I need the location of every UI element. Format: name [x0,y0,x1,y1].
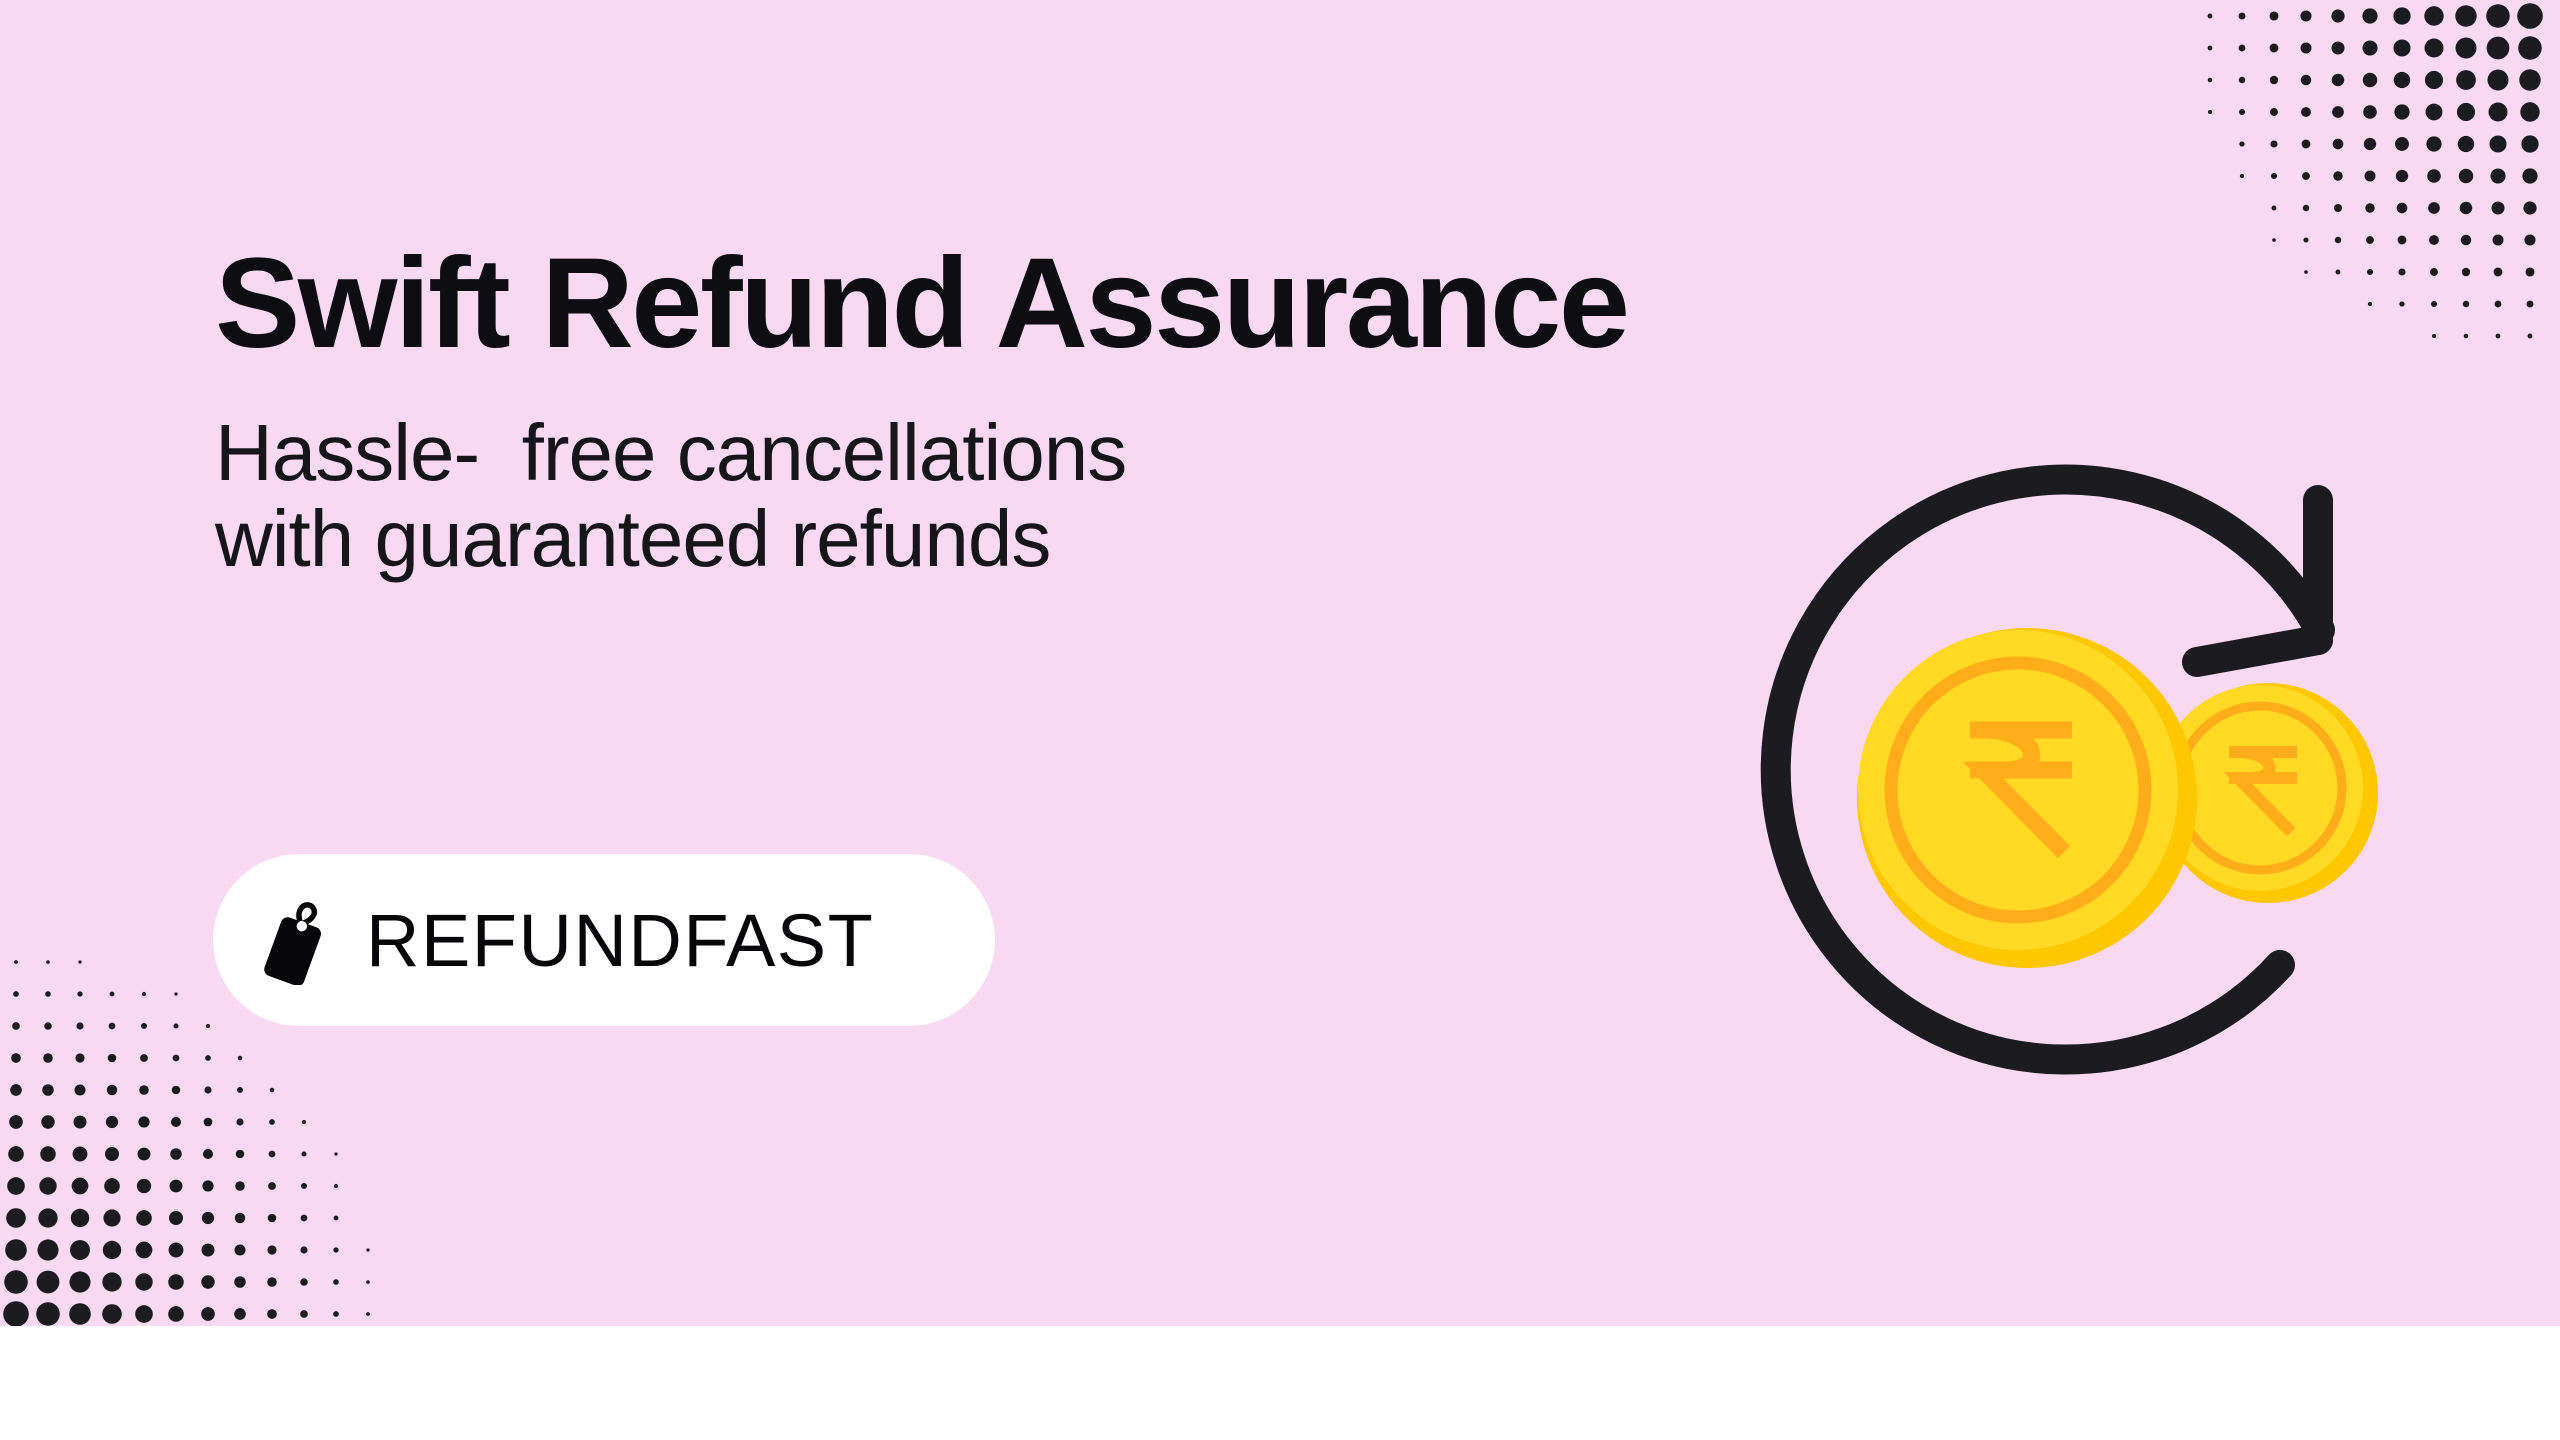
rupee-coin-icon-large [1857,628,2197,968]
banner-bottom-strip [0,1326,2560,1440]
page-title: Swift Refund Assurance [215,240,1975,368]
coupon-code-pill[interactable]: REFUNDFAST [213,854,995,1026]
price-tag-icon [258,895,332,985]
coupon-code-label: REFUNDFAST [366,898,874,983]
promo-banner: Swift Refund Assurance Hassle- free canc… [0,0,2560,1440]
refund-arrow-coins-illustration [1660,400,2420,1120]
